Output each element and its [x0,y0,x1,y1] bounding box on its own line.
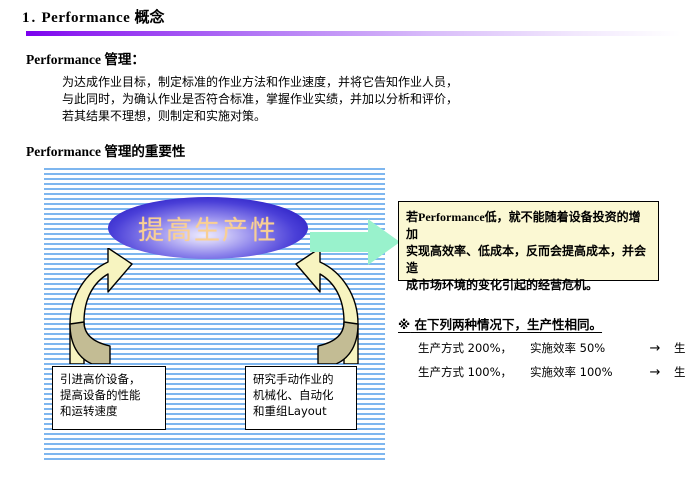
note-marker-icon: ※ [398,317,410,332]
section-1-heading: Performance 管理： [26,48,145,68]
page-title-cjk: 概念 [135,8,165,26]
note-row-1-method: 生产方式 200%， [418,340,530,356]
page-title-latin: Performance [42,10,131,26]
factor-box-right: 研究手动作业的 机械化、自动化 和重组Layout [245,366,357,430]
note-row: 生产方式 200%， 实施效率 50% → 生产性 100% [418,340,686,356]
section-2-heading-latin: Performance [26,144,101,159]
section-1-heading-latin: Performance [26,52,101,67]
note-heading: ※ 在下列两种情况下，生产性相同。 [398,314,602,333]
callout-latin: Performance [418,210,485,224]
green-right-arrow-icon [310,219,400,265]
note-row: 生产方式 100%， 实施效率 100% → 生产性 100% [418,364,686,380]
note-row-1-arrow-icon: → [636,341,674,356]
slide-page: 1. Performance 概念 Performance 管理： 为达成作业目… [0,0,686,485]
section-1-body: 为达成作业目标，制定标准的作业方法和作业速度，并将它告知作业人员， 与此同时，为… [62,74,458,125]
title-gradient-rule [26,31,681,36]
curved-arrow-right-icon [282,248,366,364]
section-2-heading-cjk: 管理的重要性 [104,144,185,160]
curved-arrow-left-icon [62,248,146,364]
note-heading-text: 在下列两种情况下，生产性相同。 [415,317,603,332]
warning-callout: 若Performance低，就不能随着设备投资的增加 实现高效率、低成本，反而会… [398,201,659,281]
factor-box-left: 引进高价设备， 提高设备的性能 和运转速度 [52,366,166,430]
callout-lead: 若 [406,210,418,224]
note-row-1-efficiency: 实施效率 50% [530,340,636,356]
note-row-2-efficiency: 实施效率 100% [530,364,636,380]
note-row-2-method: 生产方式 100%， [418,364,530,380]
section-2-heading: Performance 管理的重要性 [26,140,185,160]
section-1-heading-cjk: 管理： [104,52,145,68]
page-title: 1. Performance 概念 [22,6,165,27]
note-row-2-arrow-icon: → [636,365,674,380]
page-title-number: 1. [22,10,37,26]
note-row-2-result: 生产性 100% [674,364,686,380]
note-row-1-result: 生产性 100% [674,340,686,356]
